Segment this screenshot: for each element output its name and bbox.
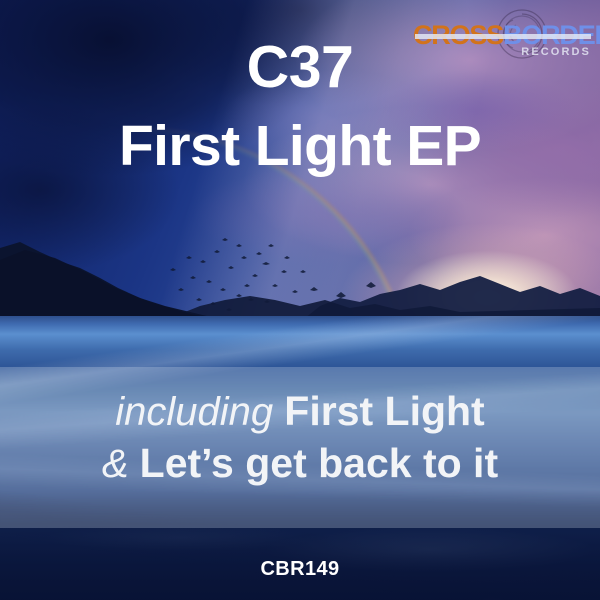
including-label: including	[115, 390, 284, 434]
track-title-2: Let’s get back to it	[140, 440, 498, 486]
catalog-number: CBR149	[0, 558, 600, 581]
track-line-1: including First Light	[0, 386, 600, 438]
track-title-1: First Light	[284, 388, 484, 434]
album-title: First Light EP	[0, 118, 600, 175]
ampersand-label: &	[102, 442, 140, 486]
record-label-logo: CROSSBORDER RECORDS	[413, 9, 593, 61]
album-cover: C37 First Light EP including First Light…	[0, 0, 600, 600]
logo-strike-bar	[415, 34, 591, 39]
track-listing: including First Light & Let’s get back t…	[0, 386, 600, 489]
track-line-2: & Let’s get back to it	[0, 438, 600, 490]
label-subtitle: RECORDS	[521, 47, 591, 58]
